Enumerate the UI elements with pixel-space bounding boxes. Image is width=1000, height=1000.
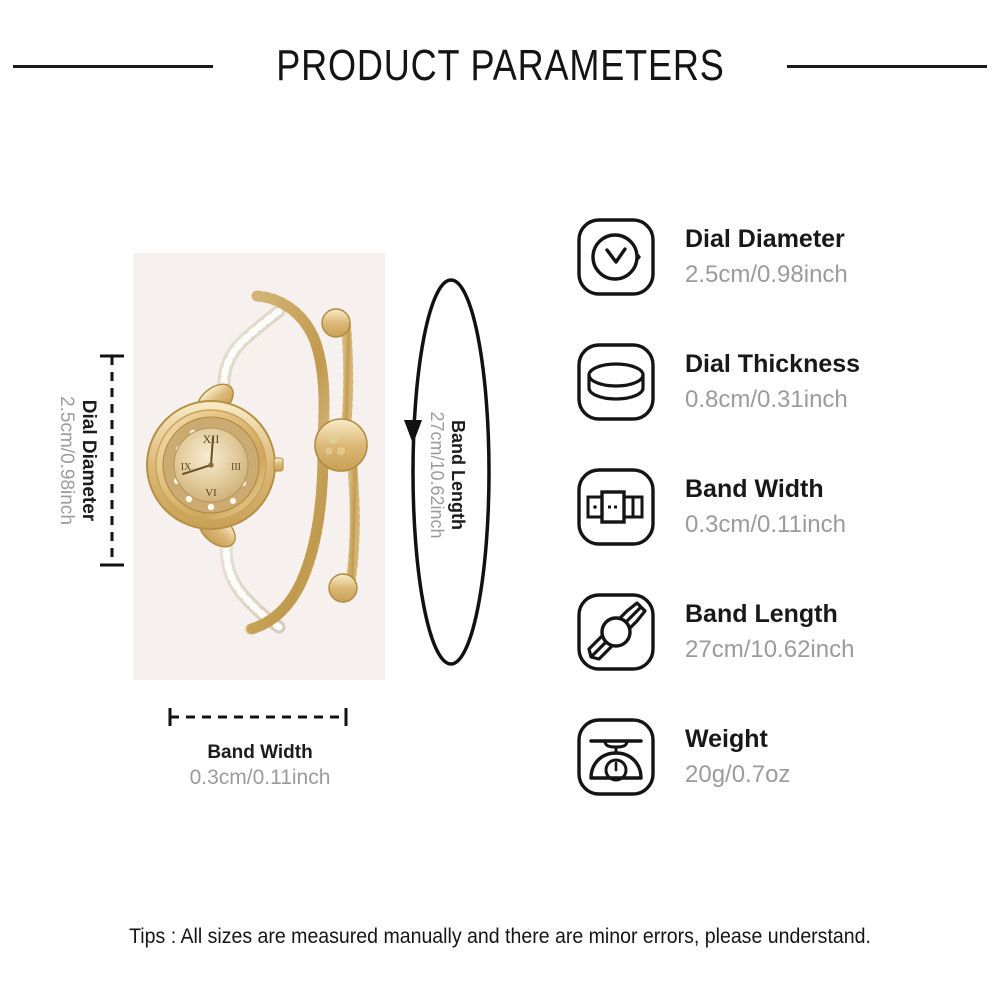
svg-text:VI: VI [205, 487, 217, 499]
spec-value: 0.3cm/0.11inch [685, 509, 846, 540]
dimension-label: Band Length [447, 420, 468, 530]
spec-row-dial-thickness: Dial Thickness 0.8cm/0.31inch [575, 337, 975, 427]
spec-label: Weight [685, 724, 790, 755]
dimension-label: Dial Diameter [77, 400, 99, 521]
spec-value: 2.5cm/0.98inch [685, 259, 848, 290]
spec-row-dial-diameter: Dial Diameter 2.5cm/0.98inch [575, 212, 975, 302]
kitchen-scale-icon [575, 716, 657, 798]
page-header: PRODUCT PARAMETERS [0, 36, 1000, 96]
spec-row-band-width: Band Width 0.3cm/0.11inch [575, 462, 975, 552]
specifications-list: Dial Diameter 2.5cm/0.98inch Dial Thickn… [575, 212, 975, 837]
spec-label: Dial Thickness [685, 349, 860, 380]
svg-text:III: III [231, 462, 241, 473]
spec-value: 0.8cm/0.31inch [685, 384, 860, 415]
dimension-label: Band Width [150, 742, 370, 764]
dimension-band-width: Band Width 0.3cm/0.11inch [150, 706, 370, 790]
band-width-measure-line [150, 706, 370, 726]
dimension-band-length: Band Length 27cm/10.62inch [396, 272, 506, 672]
dimension-dial-diameter: Dial Diameter 2.5cm/0.98inch [42, 348, 132, 573]
dial-thickness-icon [575, 341, 657, 423]
spec-value: 20g/0.7oz [685, 759, 790, 790]
spec-row-weight: Weight 20g/0.7oz [575, 712, 975, 802]
dimension-value: 27cm/10.62inch [426, 411, 447, 538]
product-photo-illustration: XII III VI IX [133, 253, 385, 680]
watch-buckle-icon [575, 466, 657, 548]
title-rule-right [787, 65, 987, 68]
spec-value: 27cm/10.62inch [685, 634, 854, 665]
product-photo: XII III VI IX [133, 253, 385, 680]
spec-row-band-length: Band Length 27cm/10.62inch [575, 587, 975, 677]
title-rule-left [13, 65, 213, 68]
dimension-value: 0.3cm/0.11inch [150, 766, 370, 790]
svg-text:XII: XII [203, 432, 220, 446]
spec-label: Band Width [685, 474, 846, 505]
tips-note: Tips : All sizes are measured manually a… [35, 925, 965, 949]
watch-strap-icon [575, 591, 657, 673]
spec-label: Band Length [685, 599, 854, 630]
watch-dial-icon [575, 216, 657, 298]
spec-label: Dial Diameter [685, 224, 848, 255]
page-title: PRODUCT PARAMETERS [276, 41, 724, 91]
dimension-value: 2.5cm/0.98inch [55, 396, 77, 525]
